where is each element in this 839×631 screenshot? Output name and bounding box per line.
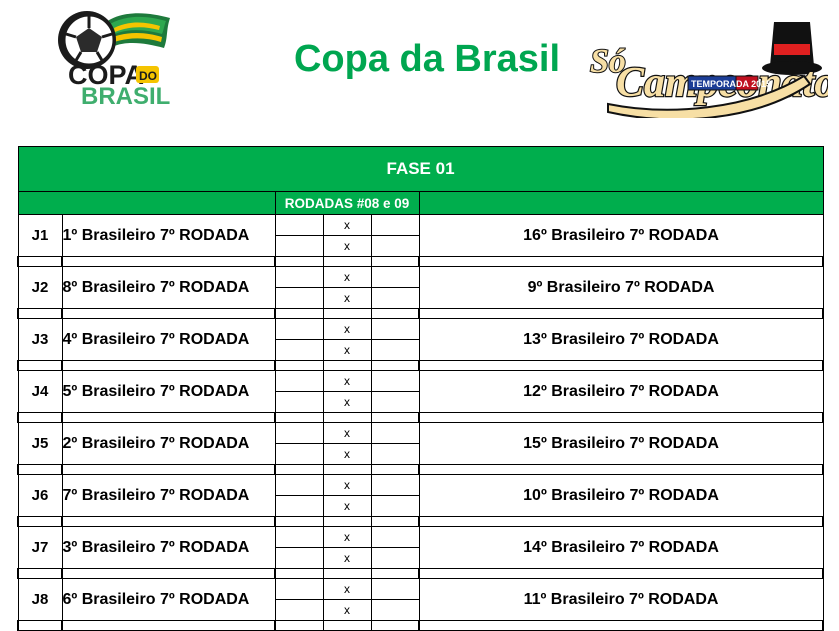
spacer-cell <box>18 517 62 527</box>
score-separator-top: x <box>323 423 371 444</box>
temporada-badge-label: TEMPORADA 2015 <box>691 79 771 89</box>
spacer-cell <box>323 361 371 371</box>
spacer-cell <box>371 361 419 371</box>
logo-brasil-text: BRASIL <box>81 83 170 108</box>
away-penalty-cell[interactable] <box>371 600 419 621</box>
match-code-cell: J3 <box>18 319 62 361</box>
home-team-cell: 7º Brasileiro 7º RODADA <box>62 475 275 517</box>
score-separator-bottom: x <box>323 548 371 569</box>
match-code-cell: J4 <box>18 371 62 413</box>
match-spacer-row <box>18 257 823 267</box>
spacer-cell <box>275 309 323 319</box>
spacer-cell <box>323 413 371 423</box>
rounds-right-blank-cell <box>419 192 823 215</box>
spacer-cell <box>18 361 62 371</box>
spacer-cell <box>371 569 419 579</box>
match-spacer-row <box>18 465 823 475</box>
spacer-cell <box>62 569 275 579</box>
spacer-cell <box>419 361 823 371</box>
spacer-cell <box>275 413 323 423</box>
away-team-cell: 14º Brasileiro 7º RODADA <box>419 527 823 569</box>
match-spacer-row <box>18 361 823 371</box>
spacer-cell <box>275 361 323 371</box>
match-code-cell: J1 <box>18 215 62 257</box>
home-team-cell: 4º Brasileiro 7º RODADA <box>62 319 275 361</box>
score-separator-top: x <box>323 475 371 496</box>
spacer-cell <box>419 413 823 423</box>
match-code-cell: J8 <box>18 579 62 621</box>
spacer-cell <box>371 465 419 475</box>
score-separator-bottom: x <box>323 496 371 517</box>
spacer-cell <box>419 309 823 319</box>
away-team-cell: 13º Brasileiro 7º RODADA <box>419 319 823 361</box>
home-score-cell[interactable] <box>275 527 323 548</box>
away-penalty-cell[interactable] <box>371 236 419 257</box>
away-penalty-cell[interactable] <box>371 548 419 569</box>
match-row: J34º Brasileiro 7º RODADAx13º Brasileiro… <box>18 319 823 340</box>
match-spacer-row <box>18 569 823 579</box>
spacer-cell <box>419 257 823 267</box>
score-separator-bottom: x <box>323 340 371 361</box>
match-spacer-row <box>18 309 823 319</box>
spacer-cell <box>419 517 823 527</box>
spacer-cell <box>62 517 275 527</box>
temporada-badge: TEMPORADA 2015 <box>688 76 771 90</box>
spacer-cell <box>419 569 823 579</box>
spacer-cell <box>18 465 62 475</box>
away-team-cell: 9º Brasileiro 7º RODADA <box>419 267 823 309</box>
spacer-cell <box>18 569 62 579</box>
home-penalty-cell[interactable] <box>371 423 419 444</box>
home-score-cell[interactable] <box>275 579 323 600</box>
score-separator-top: x <box>323 579 371 600</box>
spacer-cell <box>371 309 419 319</box>
match-spacer-row <box>18 621 823 631</box>
match-row: J67º Brasileiro 7º RODADAx10º Brasileiro… <box>18 475 823 496</box>
match-code-cell: J2 <box>18 267 62 309</box>
match-spacer-row <box>18 413 823 423</box>
home-score-cell[interactable] <box>275 215 323 236</box>
spacer-cell <box>371 257 419 267</box>
match-row: J45º Brasileiro 7º RODADAx12º Brasileiro… <box>18 371 823 392</box>
spacer-cell <box>323 465 371 475</box>
copa-do-brasil-logo: COPA DO BRASIL <box>44 4 184 108</box>
svg-text:DO: DO <box>139 69 157 83</box>
spacer-cell <box>18 309 62 319</box>
spacer-cell <box>419 621 823 631</box>
spacer-cell <box>62 413 275 423</box>
spacer-cell <box>275 517 323 527</box>
spacer-cell <box>275 621 323 631</box>
phase-title-cell: FASE 01 <box>18 147 823 192</box>
spacer-cell <box>371 621 419 631</box>
match-spacer-row <box>18 517 823 527</box>
score-separator-top: x <box>323 267 371 288</box>
spacer-cell <box>18 413 62 423</box>
home-team-cell: 5º Brasileiro 7º RODADA <box>62 371 275 413</box>
home-score-cell[interactable] <box>275 267 323 288</box>
page-title: Copa da Brasil <box>262 38 592 81</box>
home-penalty-cell[interactable] <box>371 527 419 548</box>
home-team-cell: 2º Brasileiro 7º RODADA <box>62 423 275 465</box>
away-penalty-cell[interactable] <box>371 496 419 517</box>
home-team-cell: 8º Brasileiro 7º RODADA <box>62 267 275 309</box>
away-score-cell[interactable] <box>275 600 323 621</box>
spacer-cell <box>18 621 62 631</box>
phase-header-row: FASE 01 <box>18 147 823 192</box>
home-score-cell[interactable] <box>275 475 323 496</box>
match-row: J11º Brasileiro 7º RODADAx16º Brasileiro… <box>18 215 823 236</box>
page-header: COPA DO BRASIL Copa da Brasil Só Campeon… <box>0 0 839 128</box>
away-penalty-cell[interactable] <box>371 288 419 309</box>
away-score-cell[interactable] <box>275 288 323 309</box>
away-team-cell: 16º Brasileiro 7º RODADA <box>419 215 823 257</box>
score-separator-bottom: x <box>323 600 371 621</box>
score-separator-bottom: x <box>323 444 371 465</box>
spacer-cell <box>62 257 275 267</box>
home-penalty-cell[interactable] <box>371 579 419 600</box>
spacer-cell <box>62 361 275 371</box>
spacer-cell <box>323 517 371 527</box>
spacer-cell <box>323 257 371 267</box>
spacer-cell <box>275 465 323 475</box>
away-score-cell[interactable] <box>275 392 323 413</box>
spacer-cell <box>62 309 275 319</box>
match-row: J86º Brasileiro 7º RODADAx11º Brasileiro… <box>18 579 823 600</box>
rounds-header-row: RODADAS #08 e 09 <box>18 192 823 215</box>
score-separator-top: x <box>323 319 371 340</box>
score-separator-bottom: x <box>323 236 371 257</box>
away-team-cell: 15º Brasileiro 7º RODADA <box>419 423 823 465</box>
away-team-cell: 11º Brasileiro 7º RODADA <box>419 579 823 621</box>
spacer-cell <box>419 465 823 475</box>
home-team-cell: 1º Brasileiro 7º RODADA <box>62 215 275 257</box>
spacer-cell <box>62 465 275 475</box>
away-score-cell[interactable] <box>275 236 323 257</box>
away-score-cell[interactable] <box>275 340 323 361</box>
home-score-cell[interactable] <box>275 423 323 444</box>
away-penalty-cell[interactable] <box>371 340 419 361</box>
home-penalty-cell[interactable] <box>371 475 419 496</box>
home-penalty-cell[interactable] <box>371 215 419 236</box>
match-row: J28º Brasileiro 7º RODADAx9º Brasileiro … <box>18 267 823 288</box>
match-code-cell: J5 <box>18 423 62 465</box>
away-score-cell[interactable] <box>275 496 323 517</box>
spacer-cell <box>323 309 371 319</box>
match-code-cell: J6 <box>18 475 62 517</box>
away-score-cell[interactable] <box>275 444 323 465</box>
so-campeonatos-logo: Só Campeonatos TEMPORADA 2015 <box>578 18 828 118</box>
fixtures-table: FASE 01 RODADAS #08 e 09 J11º Brasileiro… <box>17 146 824 631</box>
match-code-cell: J7 <box>18 527 62 569</box>
fixtures-table-body: FASE 01 RODADAS #08 e 09 J11º Brasileiro… <box>18 147 823 631</box>
spacer-cell <box>62 621 275 631</box>
match-row: J73º Brasileiro 7º RODADAx14º Brasileiro… <box>18 527 823 548</box>
away-score-cell[interactable] <box>275 548 323 569</box>
score-separator-top: x <box>323 527 371 548</box>
spacer-cell <box>371 517 419 527</box>
spacer-cell <box>371 413 419 423</box>
score-separator-top: x <box>323 371 371 392</box>
away-team-cell: 12º Brasileiro 7º RODADA <box>419 371 823 413</box>
home-penalty-cell[interactable] <box>371 371 419 392</box>
score-separator-bottom: x <box>323 392 371 413</box>
home-score-cell[interactable] <box>275 319 323 340</box>
rounds-title-cell: RODADAS #08 e 09 <box>275 192 419 215</box>
home-team-cell: 3º Brasileiro 7º RODADA <box>62 527 275 569</box>
home-score-cell[interactable] <box>275 371 323 392</box>
match-row: J52º Brasileiro 7º RODADAx15º Brasileiro… <box>18 423 823 444</box>
spacer-cell <box>275 569 323 579</box>
spacer-cell <box>323 569 371 579</box>
score-separator-bottom: x <box>323 288 371 309</box>
home-penalty-cell[interactable] <box>371 319 419 340</box>
home-team-cell: 6º Brasileiro 7º RODADA <box>62 579 275 621</box>
away-penalty-cell[interactable] <box>371 392 419 413</box>
away-penalty-cell[interactable] <box>371 444 419 465</box>
home-penalty-cell[interactable] <box>371 267 419 288</box>
spacer-cell <box>323 621 371 631</box>
score-separator-top: x <box>323 215 371 236</box>
spacer-cell <box>18 257 62 267</box>
spacer-cell <box>275 257 323 267</box>
away-team-cell: 10º Brasileiro 7º RODADA <box>419 475 823 517</box>
rounds-left-blank-cell <box>18 192 275 215</box>
